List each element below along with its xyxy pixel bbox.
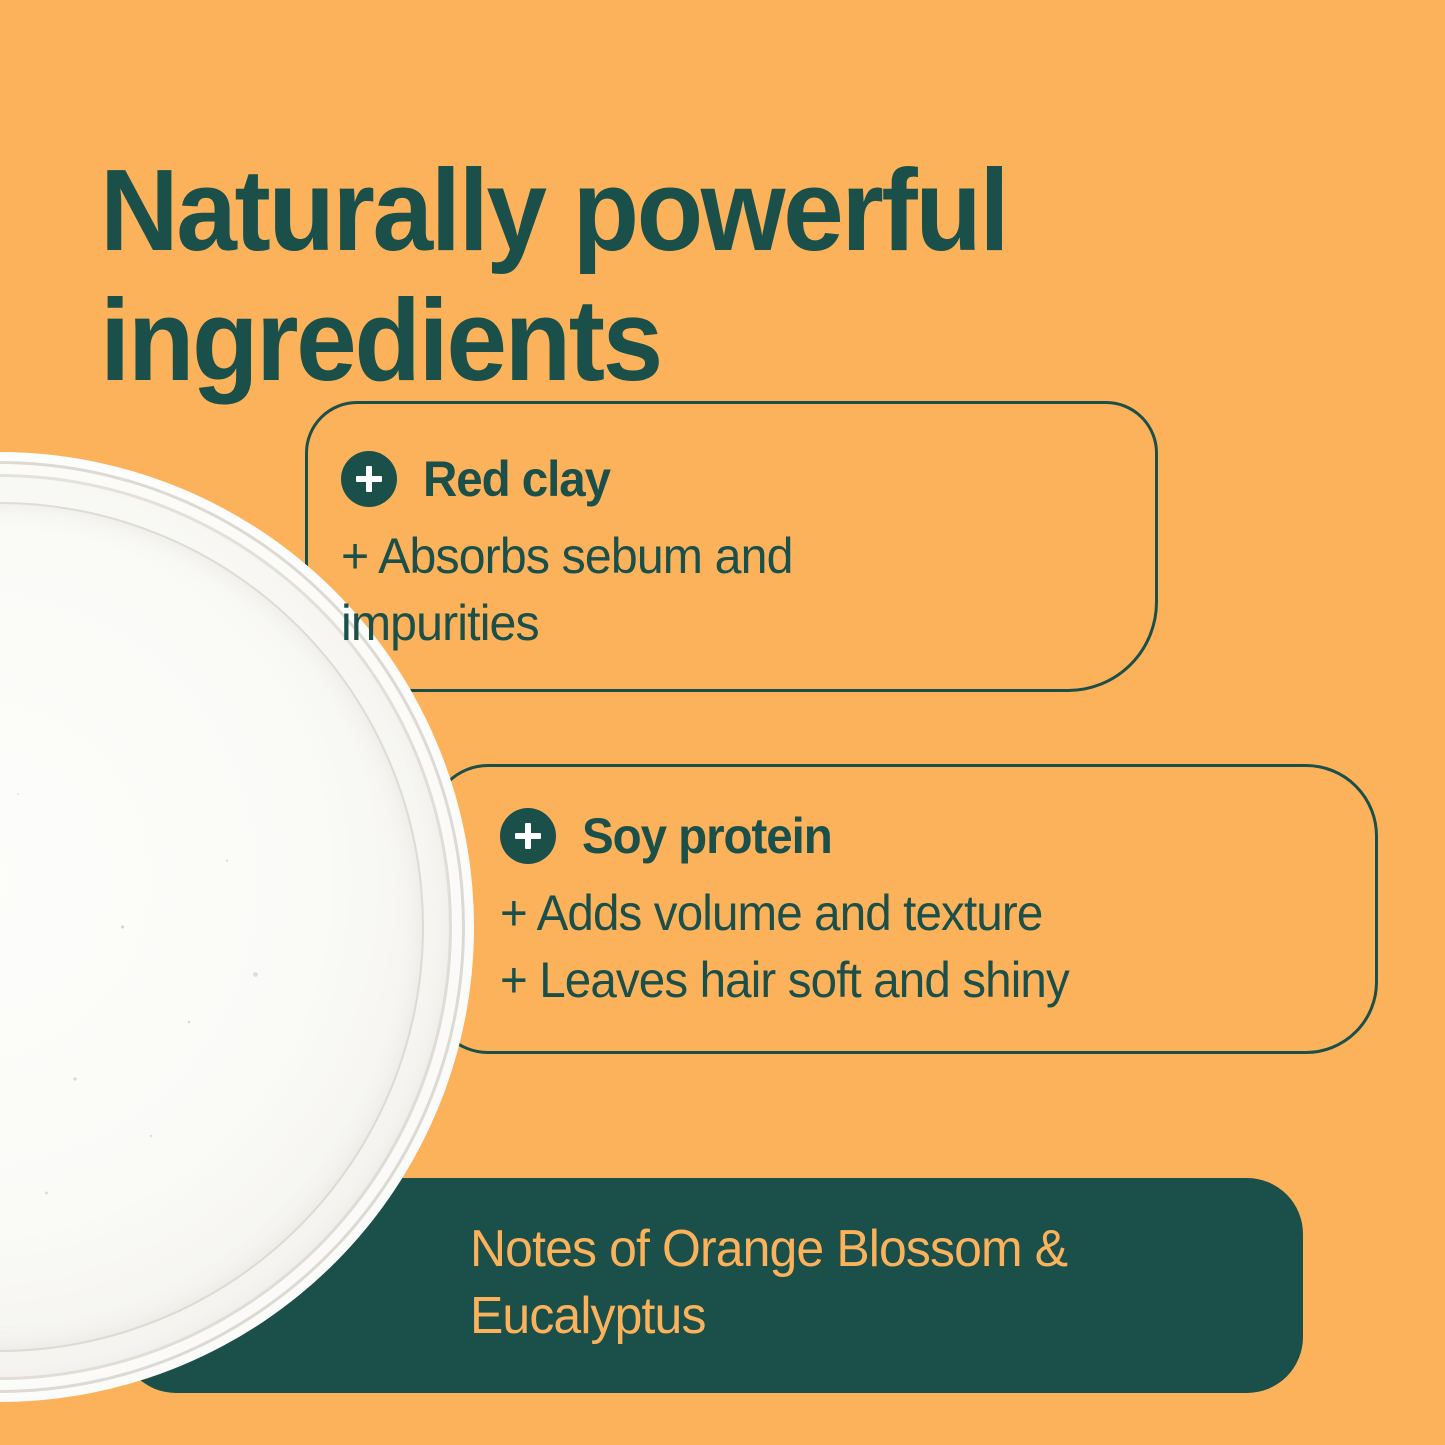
plus-circle-icon — [500, 808, 556, 864]
ingredient-benefit-item: impurities — [341, 590, 1113, 657]
ingredient-card-red-clay-content: Red clay + Absorbs sebum and impurities — [341, 451, 1141, 657]
ingredient-title: Soy protein — [582, 811, 832, 861]
clay-powder-granules — [0, 722, 64, 1152]
page-title: Naturally powerful ingredients — [100, 146, 1162, 406]
ingredient-benefit-list: + Adds volume and texture + Leaves hair … — [500, 880, 1336, 1014]
ingredient-benefit-item: + Adds volume and texture — [500, 880, 1336, 947]
card-header-row: Red clay — [341, 451, 1141, 507]
scent-notes-text: Notes of Orange Blossom & Eucalyptus — [470, 1216, 1248, 1349]
ingredient-card-soy-protein-content: Soy protein + Adds volume and texture + … — [500, 808, 1380, 1014]
ingredient-benefit-item: + Leaves hair soft and shiny — [500, 947, 1336, 1014]
ingredient-benefit-item: + Absorbs sebum and — [341, 523, 1113, 590]
plus-circle-icon — [341, 451, 397, 507]
card-header-row: Soy protein — [500, 808, 1380, 864]
ingredient-title: Red clay — [423, 454, 610, 504]
ingredients-infographic: Naturally powerful ingredients Red clay … — [0, 0, 1445, 1445]
ingredient-benefit-list: + Absorbs sebum and impurities — [341, 523, 1113, 657]
